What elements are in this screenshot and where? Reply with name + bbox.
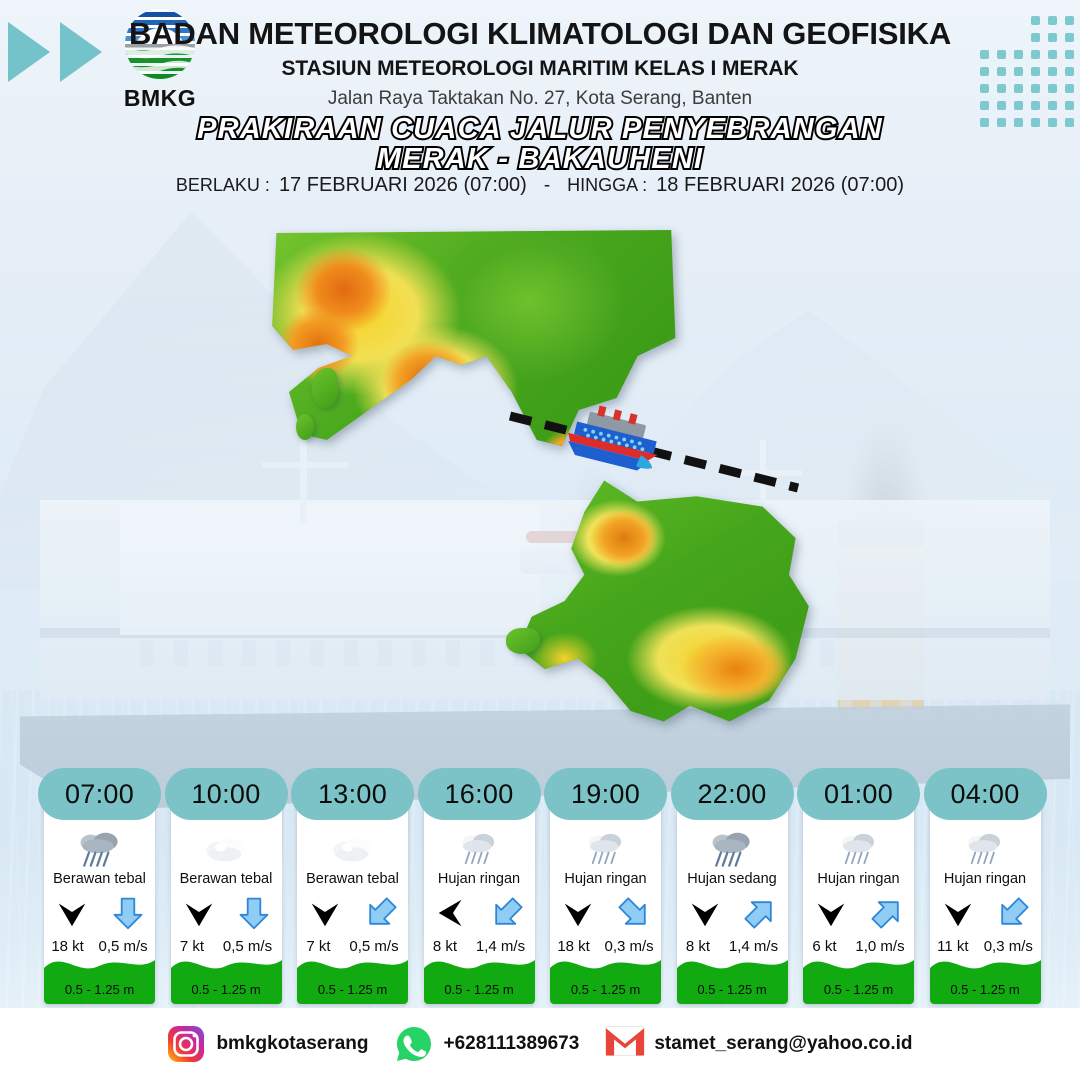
current-arrow (616, 895, 652, 936)
wind-arrow (306, 894, 344, 937)
wind-arrow (559, 894, 597, 937)
weather-label: Berawan tebal (53, 872, 146, 888)
forecast-card: Hujan ringan8 kt1,4 m/s0.5 - 1.25 m16:00 (418, 768, 541, 1004)
wave-height: 0.5 - 1.25 m (677, 982, 788, 997)
email-address: stamet_serang@yahoo.co.id (654, 1033, 912, 1055)
wind-arrow (433, 894, 471, 937)
forecast-card-body: Berawan tebal7 kt0,5 m/s0.5 - 1.25 m (171, 796, 282, 1004)
current-direction-icon (995, 895, 1031, 931)
station-name: STASIUN METEOROLOGI MARITIM KELAS I MERA… (0, 57, 1080, 81)
gmail-icon (605, 1025, 643, 1063)
contact-email[interactable]: stamet_serang@yahoo.co.id (605, 1025, 912, 1063)
whatsapp-number: +628111389673 (444, 1033, 580, 1055)
forecast-card-body: Hujan ringan6 kt1,0 m/s0.5 - 1.25 m (803, 796, 914, 1004)
weather-label: Hujan ringan (438, 872, 520, 888)
poster-root: BMKG BADAN METEOROLOGI KLIMATOLOGI DAN G… (0, 0, 1080, 1080)
wave-height: 0.5 - 1.25 m (297, 982, 408, 997)
topographic-relief-lampung (492, 470, 822, 732)
validity-from-value: 17 FEBRUARI 2026 (07:00) (279, 174, 527, 197)
light-rain-icon (455, 830, 503, 868)
current-direction-icon (236, 895, 272, 931)
weather-icon (835, 830, 883, 868)
weather-icon (329, 830, 377, 868)
weather-label: Hujan ringan (564, 872, 646, 888)
wave-graphic: 0.5 - 1.25 m (550, 942, 661, 1004)
direction-row (677, 895, 788, 937)
forecast-card-body: Hujan sedang8 kt1,4 m/s0.5 - 1.25 m (677, 796, 788, 1004)
forecast-time[interactable]: 01:00 (797, 768, 920, 820)
weather-icon (455, 830, 503, 868)
current-arrow (995, 895, 1031, 936)
light-rain-icon (582, 830, 630, 868)
wind-arrow (53, 894, 91, 937)
weather-label: Berawan tebal (180, 872, 273, 888)
current-direction-icon (489, 895, 525, 931)
current-arrow (236, 895, 272, 936)
wave-graphic: 0.5 - 1.25 m (803, 942, 914, 1004)
forecast-card-body: Berawan tebal18 kt0,5 m/s0.5 - 1.25 m (44, 796, 155, 1004)
islet-2 (296, 414, 314, 440)
forecast-card-body: Hujan ringan8 kt1,4 m/s0.5 - 1.25 m (424, 796, 535, 1004)
cloud-icon (202, 833, 250, 865)
map-lampung-bakauheni (492, 470, 822, 732)
rain-cloud-icon (707, 830, 757, 868)
wind-arrow (939, 894, 977, 937)
forecast-card: Berawan tebal7 kt0,5 m/s0.5 - 1.25 m10:0… (165, 768, 288, 1004)
current-direction-icon (616, 895, 652, 931)
weather-icon (582, 830, 630, 868)
wave-height: 0.5 - 1.25 m (550, 982, 661, 997)
wave-height: 0.5 - 1.25 m (930, 982, 1041, 997)
current-direction-icon (742, 895, 778, 931)
weather-label: Hujan ringan (817, 872, 899, 888)
forecast-time[interactable]: 04:00 (924, 768, 1047, 820)
current-direction-icon (869, 895, 905, 931)
weather-icon (75, 830, 125, 868)
weather-label: Hujan ringan (944, 872, 1026, 888)
rain-cloud-icon (75, 830, 125, 868)
ferry-icon (556, 404, 672, 474)
wind-direction-icon (433, 894, 471, 932)
direction-row (44, 895, 155, 937)
wave-graphic: 0.5 - 1.25 m (930, 942, 1041, 1004)
forecast-card: Hujan sedang8 kt1,4 m/s0.5 - 1.25 m22:00 (671, 768, 794, 1004)
forecast-time[interactable]: 13:00 (291, 768, 414, 820)
forecast-time[interactable]: 07:00 (38, 768, 161, 820)
contact-instagram[interactable]: bmkgkotaserang (167, 1025, 368, 1063)
direction-row (930, 895, 1041, 937)
footer-contact-bar: bmkgkotaserang +628111389673 (0, 1008, 1080, 1080)
direction-row (803, 895, 914, 937)
light-rain-icon (961, 830, 1009, 868)
forecast-card-body: Berawan tebal7 kt0,5 m/s0.5 - 1.25 m (297, 796, 408, 1004)
wind-direction-icon (686, 894, 724, 932)
current-direction-icon (110, 895, 146, 931)
direction-row (297, 895, 408, 937)
wave-graphic: 0.5 - 1.25 m (677, 942, 788, 1004)
forecast-time[interactable]: 16:00 (418, 768, 541, 820)
title-line-1: PRAKIRAAN CUACA JALUR PENYEBRANGAN (0, 114, 1080, 144)
validity-from-label: BERLAKU : (176, 175, 270, 196)
current-arrow (869, 895, 905, 936)
weather-icon (961, 830, 1009, 868)
direction-row (424, 895, 535, 937)
whatsapp-icon (395, 1025, 433, 1063)
weather-icon (202, 830, 250, 868)
forecast-card: Hujan ringan11 kt0,3 m/s0.5 - 1.25 m04:0… (924, 768, 1047, 1004)
forecast-card-body: Hujan ringan11 kt0,3 m/s0.5 - 1.25 m (930, 796, 1041, 1004)
validity-separator: - (536, 175, 558, 197)
current-arrow (742, 895, 778, 936)
forecast-cards: Berawan tebal18 kt0,5 m/s0.5 - 1.25 m07:… (38, 768, 1046, 1004)
wind-direction-icon (180, 894, 218, 932)
wind-direction-icon (559, 894, 597, 932)
weather-icon (707, 830, 757, 868)
islet-1 (312, 368, 338, 408)
title-line-2: MERAK - BAKAUHENI (0, 144, 1080, 174)
header-text-block: BADAN METEOROLOGI KLIMATOLOGI DAN GEOFIS… (0, 16, 1080, 110)
forecast-card: Berawan tebal18 kt0,5 m/s0.5 - 1.25 m07:… (38, 768, 161, 1004)
wave-graphic: 0.5 - 1.25 m (424, 942, 535, 1004)
wind-arrow (812, 894, 850, 937)
contact-whatsapp[interactable]: +628111389673 (395, 1025, 580, 1063)
weather-label: Hujan sedang (687, 872, 777, 888)
cloud-icon (329, 833, 377, 865)
forecast-card: Hujan ringan18 kt0,3 m/s0.5 - 1.25 m19:0… (544, 768, 667, 1004)
wave-height: 0.5 - 1.25 m (171, 982, 282, 997)
direction-row (171, 895, 282, 937)
wave-height: 0.5 - 1.25 m (803, 982, 914, 997)
instagram-handle: bmkgkotaserang (216, 1033, 368, 1055)
poster-title: PRAKIRAAN CUACA JALUR PENYEBRANGAN MERAK… (0, 114, 1080, 174)
validity-row: BERLAKU : 17 FEBRUARI 2026 (07:00) - HIN… (0, 174, 1080, 197)
instagram-icon (167, 1025, 205, 1063)
current-arrow (110, 895, 146, 936)
wave-height: 0.5 - 1.25 m (424, 982, 535, 997)
wind-arrow (686, 894, 724, 937)
current-direction-icon (363, 895, 399, 931)
wind-direction-icon (53, 894, 91, 932)
forecast-card: Hujan ringan6 kt1,0 m/s0.5 - 1.25 m01:00 (797, 768, 920, 1004)
wave-height: 0.5 - 1.25 m (44, 982, 155, 997)
current-arrow (363, 895, 399, 936)
weather-label: Berawan tebal (306, 872, 399, 888)
forecast-card-body: Hujan ringan18 kt0,3 m/s0.5 - 1.25 m (550, 796, 661, 1004)
forecast-time[interactable]: 10:00 (165, 768, 288, 820)
wind-direction-icon (812, 894, 850, 932)
station-address: Jalan Raya Taktakan No. 27, Kota Serang,… (0, 88, 1080, 110)
forecast-card: Berawan tebal7 kt0,5 m/s0.5 - 1.25 m13:0… (291, 768, 414, 1004)
forecast-time[interactable]: 19:00 (544, 768, 667, 820)
validity-to-value: 18 FEBRUARI 2026 (07:00) (656, 174, 904, 197)
current-arrow (489, 895, 525, 936)
light-rain-icon (835, 830, 883, 868)
wind-direction-icon (306, 894, 344, 932)
forecast-time[interactable]: 22:00 (671, 768, 794, 820)
validity-to-label: HINGGA : (567, 175, 647, 196)
wind-direction-icon (939, 894, 977, 932)
agency-name: BADAN METEOROLOGI KLIMATOLOGI DAN GEOFIS… (0, 16, 1080, 52)
ferry-icon-svg (556, 404, 672, 474)
wave-graphic: 0.5 - 1.25 m (44, 942, 155, 1004)
wave-graphic: 0.5 - 1.25 m (297, 942, 408, 1004)
wind-arrow (180, 894, 218, 937)
direction-row (550, 895, 661, 937)
wave-graphic: 0.5 - 1.25 m (171, 942, 282, 1004)
